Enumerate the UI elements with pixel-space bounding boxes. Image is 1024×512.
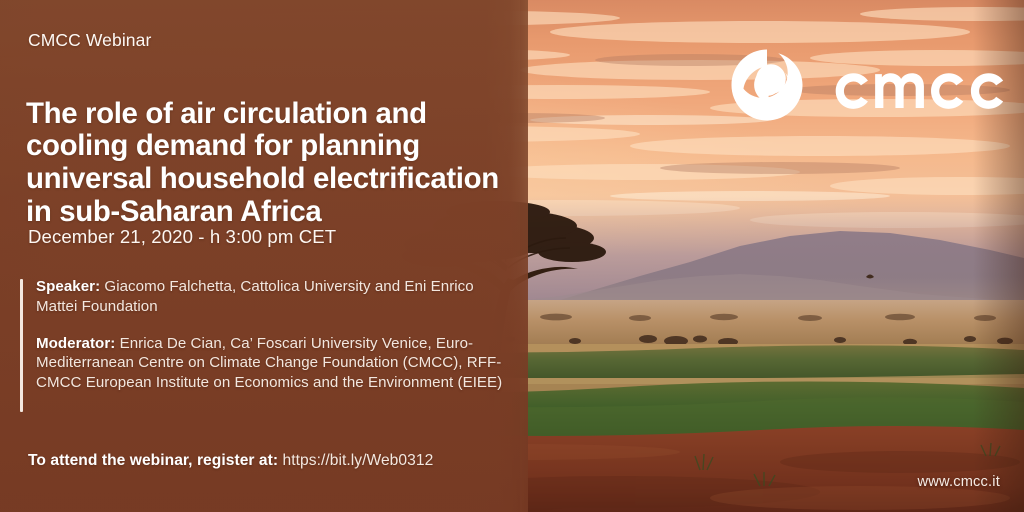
registration-line[interactable]: To attend the webinar, register at: http… [28,452,433,470]
cmcc-logo [730,48,1024,122]
speaker-label: Speaker: [36,278,100,295]
credits-accent-rule [20,279,23,412]
speaker-value: Giacomo Falchetta, Cattolica University … [36,278,474,315]
registration-link[interactable]: https://bit.ly/Web0312 [278,452,433,469]
cmcc-swirl-logo-icon [730,48,804,122]
credits-block: Speaker: Giacomo Falchetta, Cattolica Un… [20,277,510,393]
moderator-line: Moderator: Enrica De Cian, Ca’ Foscari U… [36,334,510,393]
page-title: The role of air circulation and cooling … [26,98,518,229]
credits-spacer [36,317,510,334]
eyebrow-label: CMCC Webinar [28,30,151,51]
left-content-column: CMCC Webinar The role of air circulation… [0,0,520,512]
speaker-line: Speaker: Giacomo Falchetta, Cattolica Un… [36,277,510,317]
registration-label: To attend the webinar, register at: [28,452,278,469]
cmcc-wordmark [824,59,1024,111]
webinar-announcement-card: CMCC Webinar The role of air circulation… [0,0,1024,512]
website-url[interactable]: www.cmcc.it [918,474,1000,490]
moderator-label: Moderator: [36,335,115,352]
event-datetime: December 21, 2020 - h 3:00 pm CET [28,226,336,248]
